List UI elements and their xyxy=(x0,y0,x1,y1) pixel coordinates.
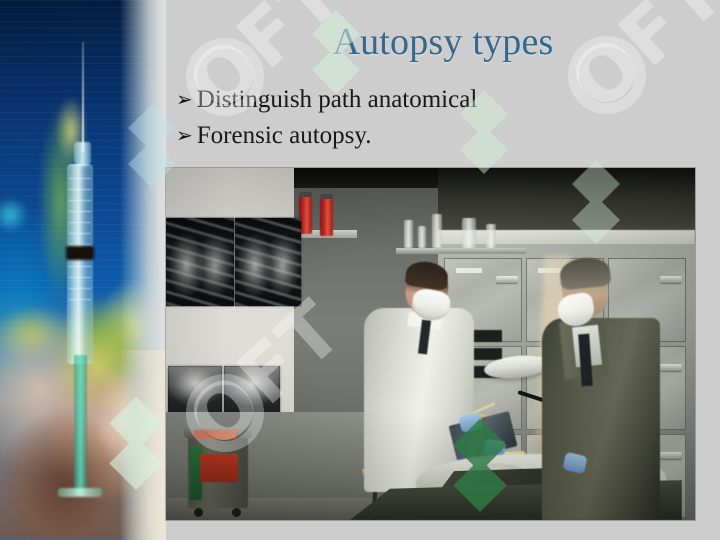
syringe-graduations xyxy=(69,178,91,308)
sidebar-syringe-image xyxy=(0,0,166,540)
photo-bin-wheel xyxy=(194,508,203,517)
presentation-slide: Autopsy types ➢ Distinguish path anatomi… xyxy=(0,0,720,540)
photo-bin-lid-label xyxy=(194,430,236,439)
photo-bin-wheel xyxy=(232,508,241,517)
syringe-hub xyxy=(74,142,91,166)
morgue-door-handle[interactable] xyxy=(660,364,682,371)
morgue-door-label xyxy=(456,268,482,273)
morgue-door-handle[interactable] xyxy=(660,276,682,283)
bullet-item: ➢ Distinguish path anatomical xyxy=(176,84,696,116)
syringe-needle-icon xyxy=(82,42,84,152)
morgue-door-handle[interactable] xyxy=(660,452,682,459)
arrow-bullet-icon: ➢ xyxy=(176,120,193,150)
slide-title: Autopsy types xyxy=(176,20,710,64)
xray-image xyxy=(235,218,301,306)
photo-bin-red-label xyxy=(200,454,238,482)
syringe-plunger xyxy=(74,355,87,495)
photo-bottle xyxy=(418,226,426,248)
photo-cylinder-cap xyxy=(320,194,333,199)
chest-xray-film xyxy=(166,218,234,306)
photo-bottle xyxy=(486,224,496,248)
autopsy-room-photo xyxy=(166,168,695,520)
syringe-flange xyxy=(58,488,102,497)
photo-cylinder-cap xyxy=(299,192,312,197)
photo-morgue-upper-wall xyxy=(438,168,695,230)
sidebar-edge-fade-warm xyxy=(120,350,166,540)
arrow-bullet-icon: ➢ xyxy=(176,84,193,114)
bullet-item: ➢ Forensic autopsy. xyxy=(176,120,696,152)
morgue-door-handle[interactable] xyxy=(496,276,518,283)
bullet-list: ➢ Distinguish path anatomical ➢ Forensic… xyxy=(176,84,696,156)
photo-bottle xyxy=(404,220,413,248)
photo-gas-cylinder xyxy=(320,198,333,236)
photo-shelf xyxy=(396,248,526,254)
chest-xray-film xyxy=(235,218,301,306)
photo-bottle xyxy=(432,214,442,248)
bullet-text: Forensic autopsy. xyxy=(197,120,372,152)
xray-image xyxy=(166,218,234,306)
photo-bottle xyxy=(462,218,476,248)
syringe-stopper xyxy=(66,246,94,260)
bullet-text: Distinguish path anatomical xyxy=(197,84,478,116)
